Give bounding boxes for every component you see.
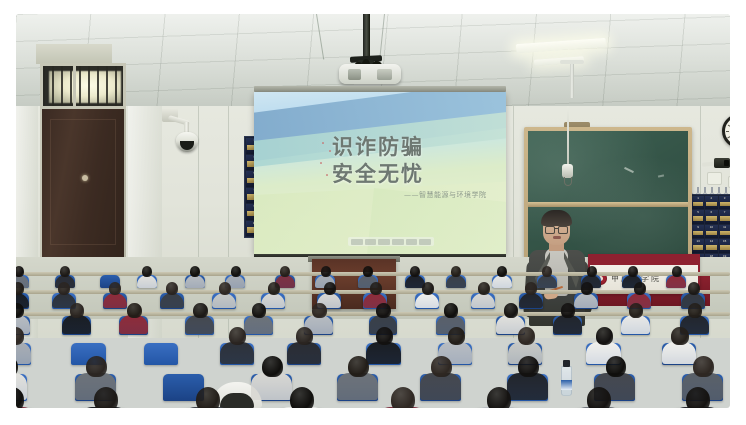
audience-member-head: [219, 282, 231, 295]
audience-member-head: [363, 266, 373, 277]
audience-member-head: [634, 282, 646, 295]
phone-pocket-number: 15: [719, 239, 731, 244]
audience-member-head: [16, 303, 24, 318]
toolbar-icon[interactable]: [378, 239, 390, 245]
transom-bars: [43, 66, 123, 106]
toolbar-icon[interactable]: [351, 239, 363, 245]
wall-security-camera: [714, 158, 730, 168]
audience-member: [676, 384, 719, 408]
door-knob[interactable]: [82, 175, 88, 181]
phone-pocket[interactable]: 7: [719, 210, 731, 223]
toolbar-icon[interactable]: [392, 239, 404, 245]
audience-member-head: [581, 282, 593, 295]
audience-member-head: [142, 266, 152, 277]
audience-member: [186, 384, 229, 408]
audience-member: [555, 301, 581, 330]
door-header-box: [36, 44, 112, 64]
audience-member-head: [525, 282, 537, 295]
sign-header-band: [590, 256, 698, 265]
audience-member-head: [693, 356, 713, 377]
wall-switch-plate[interactable]: [707, 172, 722, 185]
audience-member-head: [370, 282, 382, 295]
audience-member-head: [448, 327, 465, 345]
phone-pocket-number: 11: [719, 225, 731, 230]
audience-member: [138, 266, 156, 285]
photo-frame: 123456789101112 12345678910: [0, 0, 746, 425]
audience-member-head: [671, 327, 688, 345]
audience-member: [214, 281, 236, 305]
audience-member-head: [70, 303, 84, 318]
audience-member: [623, 301, 649, 330]
ceiling-projector: [339, 64, 401, 84]
audience-member-head: [231, 266, 241, 277]
phone-pocket-number: 2: [705, 196, 717, 201]
audience-member-head: [190, 266, 200, 277]
audience-member-head: [252, 303, 266, 318]
phone-pocket[interactable]: 2: [705, 196, 717, 209]
audience-member-head: [94, 387, 118, 408]
phone-pocket[interactable]: 1: [692, 196, 704, 209]
audience-member: [16, 384, 34, 408]
audience-member-head: [109, 282, 121, 295]
presentation-toolbar[interactable]: [348, 237, 434, 246]
audience-member-head: [376, 327, 393, 345]
audience-member: [222, 326, 253, 360]
projector-lens: [348, 69, 361, 80]
audience-member-head: [58, 282, 70, 295]
audience-member-head: [497, 266, 507, 277]
phone-pocket-number: 5: [692, 210, 704, 215]
phone-pocket-number: 13: [692, 239, 704, 244]
audience-member-head: [166, 282, 178, 295]
audience-member: [84, 384, 127, 408]
audience-member: [289, 326, 320, 360]
toolbar-icon[interactable]: [365, 239, 377, 245]
classroom-photo: 123456789101112 12345678910: [16, 14, 730, 408]
phone-pocket[interactable]: 9: [692, 225, 704, 238]
audience-member-body: [287, 342, 321, 364]
slide-title: 识诈防骗 安全无忧: [332, 134, 492, 188]
audience-member: [447, 266, 465, 285]
water-bottle-label: [561, 380, 572, 390]
slide-subtitle: ——智慧能源与环境学院: [404, 190, 506, 200]
phone-pocket-number: 6: [705, 210, 717, 215]
presenter-mouth: [553, 236, 561, 239]
audience-member-head: [376, 303, 390, 318]
audience-member: [340, 354, 377, 395]
audience-member-head: [672, 266, 682, 277]
audience-member-head: [324, 282, 336, 295]
audience-member: [162, 281, 184, 305]
audience-member-head: [504, 303, 518, 318]
audience-member-head: [686, 387, 710, 408]
phone-pocket[interactable]: 15: [719, 239, 731, 252]
audience-member-head: [290, 387, 314, 408]
audience-member: [577, 384, 620, 408]
audience-member-head: [16, 266, 24, 277]
audience-member: [493, 266, 511, 285]
audience-member-head: [431, 356, 451, 377]
audience-member-head: [561, 303, 575, 318]
audience-member-head: [451, 266, 461, 277]
classroom-door[interactable]: [40, 109, 126, 259]
audience-member-body: [337, 373, 378, 400]
audience-member-head: [688, 282, 700, 295]
audience-member-head: [60, 266, 70, 277]
phone-pocket-number: 9: [692, 225, 704, 230]
phone-pocket-number: 7: [719, 210, 731, 215]
phone-pocket[interactable]: 14: [705, 239, 717, 252]
audience-member-head: [127, 303, 141, 318]
audience-member: [187, 301, 213, 330]
slide-title-line-1: 识诈防骗: [332, 134, 492, 161]
phone-pocket[interactable]: 10: [705, 225, 717, 238]
phone-pocket-number: 1: [692, 196, 704, 201]
audience-member-head: [688, 303, 702, 318]
projector-vent: [377, 69, 392, 80]
ceiling-mount-cap: [560, 60, 584, 64]
audience-member-head: [193, 303, 207, 318]
audience-member-head: [280, 266, 290, 277]
ceiling-mount-pole: [570, 62, 574, 98]
toolbar-icon[interactable]: [406, 239, 418, 245]
presenter-hair: [541, 210, 572, 226]
audience-member-head: [422, 282, 434, 295]
audience-member-head: [542, 266, 552, 277]
audience-member-head: [321, 266, 331, 277]
audience-member: [473, 281, 495, 305]
audience-member-head: [606, 356, 626, 377]
audience-member-head: [296, 327, 313, 345]
audience-member-head: [262, 356, 282, 377]
audience-member-head: [518, 327, 535, 345]
audience-member-head: [86, 356, 106, 377]
audience-member-head: [518, 356, 538, 377]
audience-member-head: [391, 387, 415, 408]
audience-member-head: [410, 266, 420, 277]
audience-member: [477, 384, 520, 408]
audience-member: [64, 301, 90, 330]
audience-member: [417, 281, 439, 305]
transom-divider: [73, 66, 76, 106]
phone-pocket[interactable]: 3: [719, 196, 731, 209]
audience-member: [122, 301, 148, 330]
phone-pocket[interactable]: 13: [692, 239, 704, 252]
audience-member-head: [629, 303, 643, 318]
audience-member: [423, 354, 460, 395]
toolbar-icon[interactable]: [419, 239, 431, 245]
audience-member-head: [348, 356, 368, 377]
audience-member: [186, 266, 204, 285]
transom-window: [40, 63, 126, 109]
audience-member-head: [268, 282, 280, 295]
audience-member-body: [420, 373, 461, 400]
phone-pocket-number: 14: [705, 239, 717, 244]
audience-seating: [16, 266, 730, 408]
phone-pocket[interactable]: 11: [719, 225, 731, 238]
audience-member-head: [229, 327, 246, 345]
phone-pocket[interactable]: 6: [705, 210, 717, 223]
door-panel: [50, 119, 116, 245]
phone-pocket-number: 3: [719, 196, 731, 201]
audience-member-head: [16, 282, 24, 295]
projection-screen: 识诈防骗 安全无忧 ——智慧能源与环境学院: [254, 92, 506, 254]
glasses-icon: [545, 226, 568, 232]
audience-member: [382, 384, 425, 408]
audience-member-head: [478, 282, 490, 295]
audience-member-head: [16, 387, 24, 408]
audience-member-head: [312, 303, 326, 318]
audience-member-head: [196, 387, 220, 408]
audience-member-head: [587, 387, 611, 408]
pull-cord-handle[interactable]: [562, 164, 573, 178]
phone-pocket[interactable]: 5: [692, 210, 704, 223]
slide-title-line-2: 安全无忧: [332, 161, 492, 188]
audience-member-head: [487, 387, 511, 408]
pull-cord-hook: [564, 177, 572, 186]
audience-member-head: [444, 303, 458, 318]
water-bottle-cap: [563, 360, 570, 367]
phone-pocket-number: 10: [705, 225, 717, 230]
pull-cord[interactable]: [567, 106, 569, 168]
audience-member-head: [596, 327, 613, 345]
audience-member-head: [587, 266, 597, 277]
chair[interactable]: [144, 343, 178, 365]
audience-member-body: [220, 342, 254, 364]
audience-member: [281, 384, 324, 408]
audience-member-head: [628, 266, 638, 277]
